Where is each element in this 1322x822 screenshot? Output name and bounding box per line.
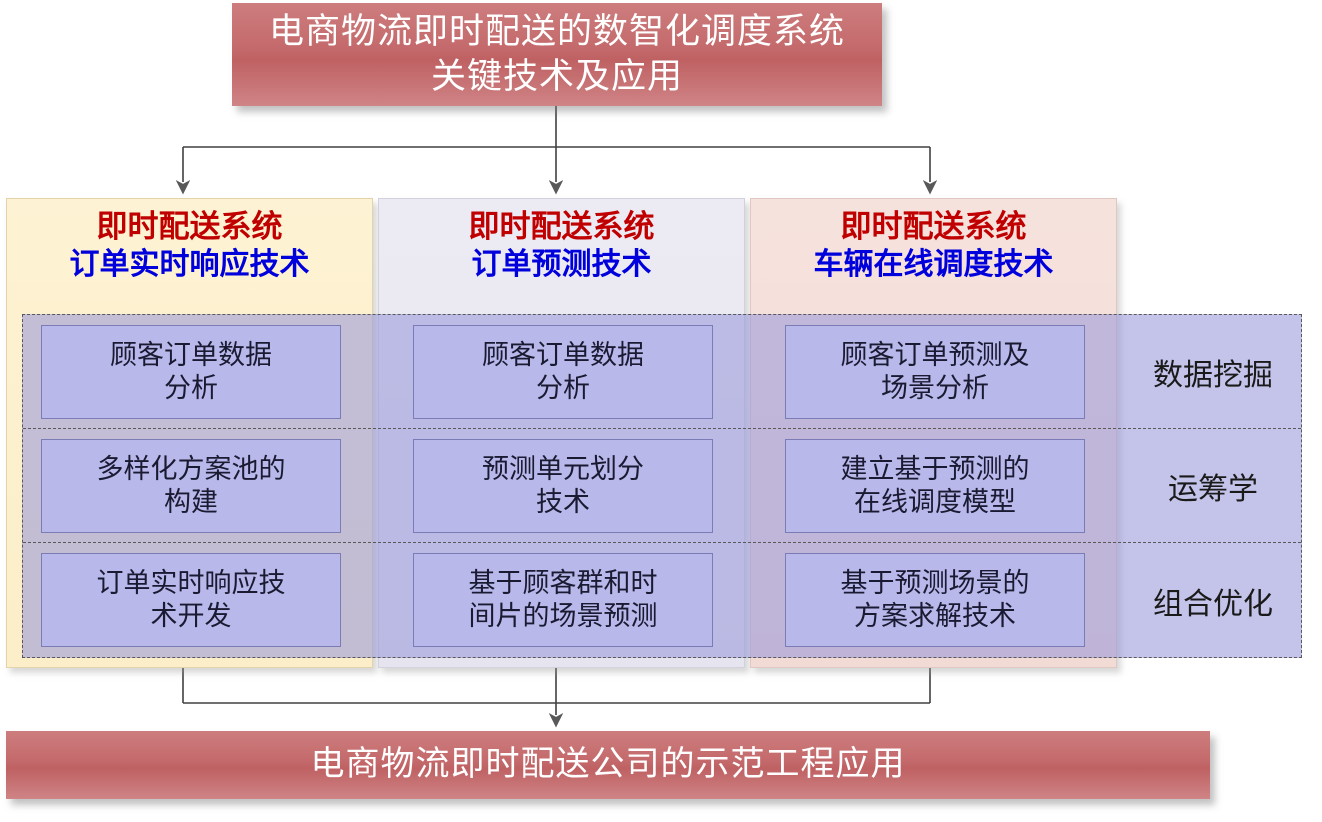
matrix-cell-r0c0[interactable]: 顾客订单数据 分析	[41, 325, 341, 419]
column-header-bottom-2: 车辆在线调度技术	[751, 248, 1116, 283]
cell-line: 订单实时响应技	[97, 567, 286, 600]
matrix-row-operations-research: 多样化方案池的 构建 预测单元划分 技术 建立基于预测的 在线调度模型 运筹学	[23, 429, 1301, 543]
column-header-top-1: 即时配送系统	[379, 209, 744, 245]
cell-line: 预测单元划分	[482, 453, 644, 486]
cell-line: 基于顾客群和时	[469, 567, 658, 600]
cell-line: 间片的场景预测	[469, 600, 658, 633]
bottom-line-1: 电商物流即时配送公司的示范工程应用	[311, 744, 906, 787]
column-header-top-2: 即时配送系统	[751, 209, 1116, 245]
converge-connector	[183, 668, 930, 715]
bottom-banner: 电商物流即时配送公司的示范工程应用	[6, 731, 1210, 799]
cell-line: 顾客订单数据	[110, 339, 272, 372]
cell-line: 技术	[536, 486, 590, 519]
row-label-operations-research: 运筹学	[1123, 429, 1303, 542]
cell-line: 顾客订单数据	[482, 339, 644, 372]
cell-line: 多样化方案池的	[97, 453, 286, 486]
matrix-cell-r1c1[interactable]: 预测单元划分 技术	[413, 439, 713, 533]
row-label-data-mining: 数据挖掘	[1123, 315, 1303, 428]
cell-line: 场景分析	[881, 372, 989, 405]
cell-line: 方案求解技术	[854, 600, 1016, 633]
column-header-bottom-1: 订单预测技术	[379, 248, 744, 283]
column-header-top-0: 即时配送系统	[7, 209, 372, 245]
matrix-cell-r2c1[interactable]: 基于顾客群和时 间片的场景预测	[413, 553, 713, 647]
title-banner: 电商物流即时配送的数智化调度系统 关键技术及应用	[232, 3, 882, 106]
matrix-row-combinatorial-optimization: 订单实时响应技 术开发 基于顾客群和时 间片的场景预测 基于预测场景的 方案求解…	[23, 543, 1301, 659]
matrix-cell-r2c0[interactable]: 订单实时响应技 术开发	[41, 553, 341, 647]
cell-line: 基于预测场景的	[841, 567, 1030, 600]
column-header-1: 即时配送系统 订单预测技术	[379, 209, 744, 309]
cell-line: 术开发	[151, 600, 232, 633]
cell-line: 在线调度模型	[854, 486, 1016, 519]
cell-line: 分析	[164, 372, 218, 405]
matrix-row-data-mining: 顾客订单数据 分析 顾客订单数据 分析 顾客订单预测及 场景分析 数据挖掘	[23, 315, 1301, 429]
matrix-cell-r1c2[interactable]: 建立基于预测的 在线调度模型	[785, 439, 1085, 533]
column-header-0: 即时配送系统 订单实时响应技术	[7, 209, 372, 309]
matrix-cell-r0c1[interactable]: 顾客订单数据 分析	[413, 325, 713, 419]
column-header-2: 即时配送系统 车辆在线调度技术	[751, 209, 1116, 309]
column-header-bottom-0: 订单实时响应技术	[7, 248, 372, 283]
cell-line: 顾客订单预测及	[841, 339, 1030, 372]
cell-line: 建立基于预测的	[841, 453, 1030, 486]
matrix-cell-r1c0[interactable]: 多样化方案池的 构建	[41, 439, 341, 533]
matrix-cell-r0c2[interactable]: 顾客订单预测及 场景分析	[785, 325, 1085, 419]
cell-line: 分析	[536, 372, 590, 405]
title-line-1: 电商物流即时配送的数智化调度系统	[269, 10, 845, 54]
matrix-cell-r2c2[interactable]: 基于预测场景的 方案求解技术	[785, 553, 1085, 647]
title-line-2: 关键技术及应用	[431, 55, 683, 99]
row-label-combinatorial-optimization: 组合优化	[1123, 543, 1303, 659]
technology-matrix-band: 顾客订单数据 分析 顾客订单数据 分析 顾客订单预测及 场景分析 数据挖掘 多样…	[22, 314, 1302, 658]
fanout-connector	[183, 106, 930, 182]
cell-line: 构建	[164, 486, 218, 519]
